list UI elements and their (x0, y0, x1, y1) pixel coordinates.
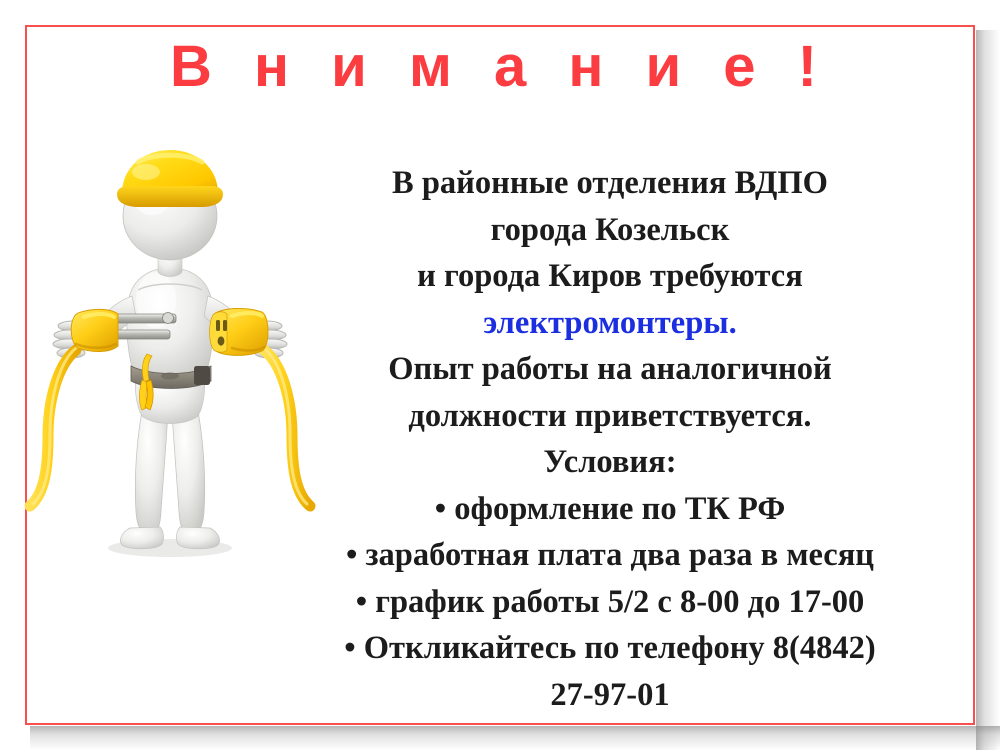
body-line-5: Опыт работы на аналогичной (252, 346, 968, 393)
body-line-bullet-4: • Откликайтесь по телефону 8(4842) (252, 625, 968, 672)
page-title: В н и м а н и е ! (0, 38, 1000, 96)
cable-left (30, 350, 76, 506)
poster-canvas: В н и м а н и е ! (0, 0, 1000, 750)
body-line-bullet-3: • график работы 5/2 с 8-00 до 17-00 (252, 579, 968, 626)
body-line-phone: 27-97-01 (252, 672, 968, 719)
body-line-bullet-2: • заработная плата два раза в месяц (252, 532, 968, 579)
body-line-2: города Козельск (252, 207, 968, 254)
body-line-1: В районные отделения ВДПО (252, 160, 968, 207)
poster-shadow-bottom (30, 726, 1000, 750)
body-line-bullet-1: • оформление по ТК РФ (252, 486, 968, 533)
hard-hat-icon (117, 150, 223, 207)
body-line-6: должности приветствуется. (252, 393, 968, 440)
body-line-3: и города Киров требуются (252, 253, 968, 300)
body-line-vacancy: электромонтеры. (252, 300, 968, 347)
poster-shadow-right (976, 30, 1000, 750)
body-line-conditions-header: Условия: (252, 439, 968, 486)
announcement-body: В районные отделения ВДПО города Козельс… (252, 160, 968, 718)
